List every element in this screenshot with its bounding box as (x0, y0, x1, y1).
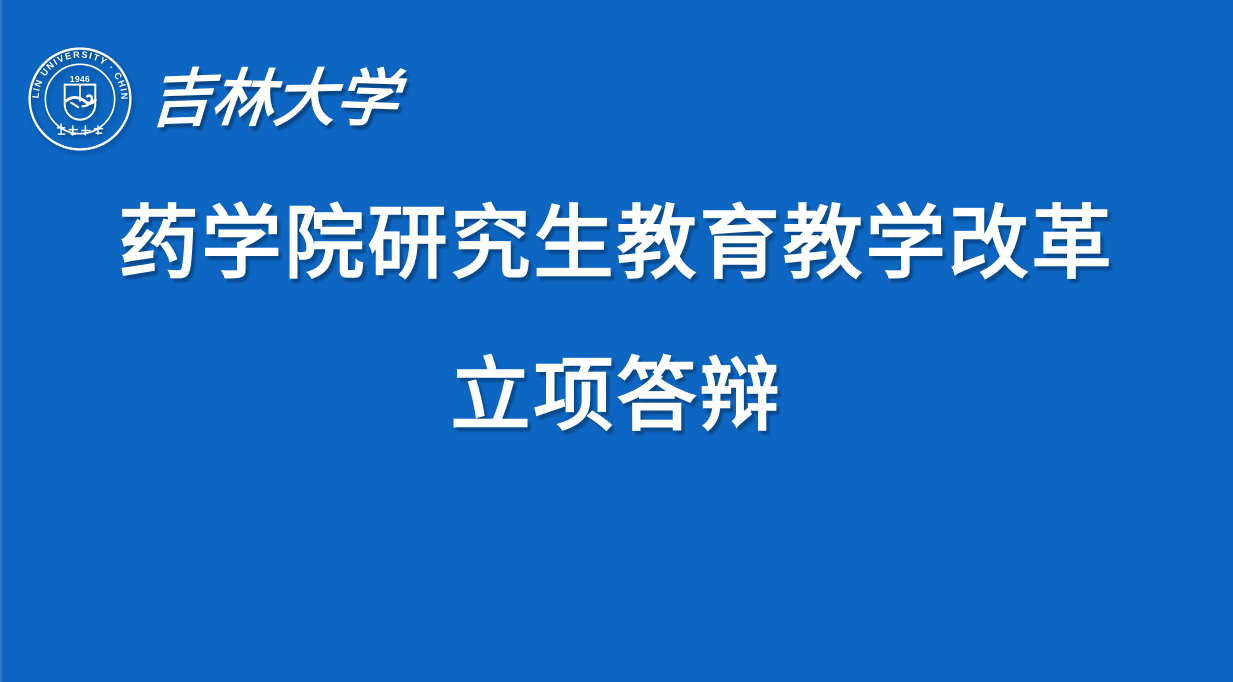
wordmark-char-1: 吉 (148, 67, 213, 131)
slide-title-line-2: 立项答辩 (0, 356, 1233, 436)
wordmark-char-2: 林 (209, 67, 277, 131)
jilin-university-emblem-icon: JILIN UNIVERSITY · CHINA 1946 (26, 45, 134, 153)
university-logo-lockup: JILIN UNIVERSITY · CHINA 1946 吉 (26, 44, 386, 154)
slide-title-line-1: 药学院研究生教育教学改革 (0, 196, 1233, 284)
presentation-title-slide: JILIN UNIVERSITY · CHINA 1946 吉 (0, 0, 1233, 682)
wordmark-char-3: 大 (271, 67, 339, 130)
emblem-founded-year: 1946 (70, 74, 90, 84)
university-wordmark: 吉 林 大 学 (150, 51, 386, 147)
wordmark-char-4: 学 (333, 67, 401, 131)
university-wordmark-characters: 吉 林 大 学 (150, 51, 386, 147)
slide-title-block: 药学院研究生教育教学改革 立项答辩 (0, 196, 1233, 436)
